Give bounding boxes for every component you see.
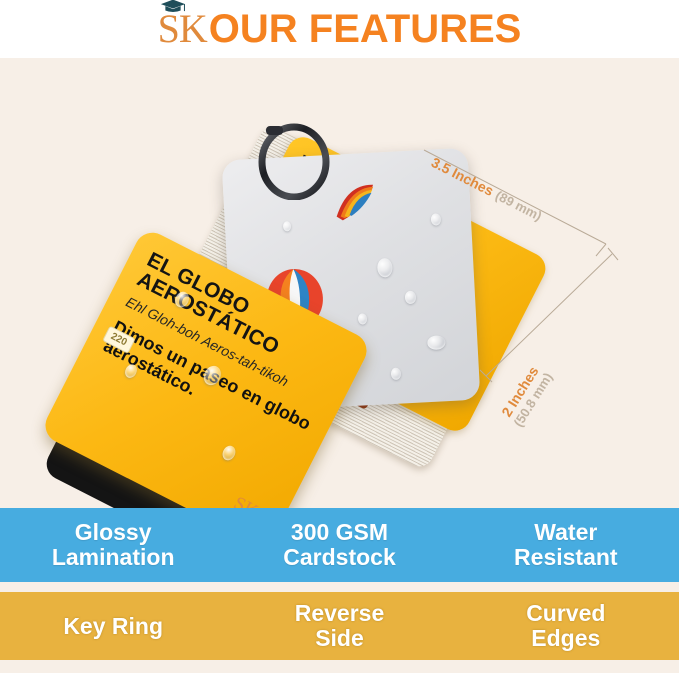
feature-curved-edges: Curved Edges (453, 601, 679, 651)
product-stage: HOT AIR BALLOON Hot Air Buh-lun We took … (0, 58, 679, 508)
key-ring-icon (248, 120, 340, 200)
water-droplet (377, 258, 393, 278)
dimension-width-mm: (89 mm) (493, 188, 544, 224)
graduation-cap-icon (160, 0, 186, 13)
feature-line-2: Resistant (453, 545, 679, 570)
feature-line-2: Side (226, 626, 452, 651)
feature-line-1: Reverse (226, 601, 452, 626)
dimension-height: 2 Inches (50.8 mm) (497, 362, 555, 430)
water-droplet (391, 368, 402, 381)
brand-name: SK (158, 9, 207, 49)
feature-line-1: Key Ring (0, 614, 226, 639)
feature-line-2: Edges (453, 626, 679, 651)
feature-300-gsm-cardstock: 300 GSM Cardstock (226, 520, 452, 570)
feature-line-1: Glossy (0, 520, 226, 545)
feature-line-2: Lamination (0, 545, 226, 570)
feature-bar-secondary: Key Ring Reverse Side Curved Edges (0, 592, 679, 660)
water-droplet (431, 213, 442, 226)
feature-reverse-side: Reverse Side (226, 601, 452, 651)
feature-water-resistant: Water Resistant (453, 520, 679, 570)
feature-line-1: Curved (453, 601, 679, 626)
brand-logo: SK (158, 9, 207, 49)
feature-bar-primary: Glossy Lamination 300 GSM Cardstock Wate… (0, 508, 679, 582)
feature-key-ring: Key Ring (0, 614, 226, 639)
water-droplet (427, 335, 446, 350)
feature-glossy-lamination: Glossy Lamination (0, 520, 226, 570)
feature-line-1: Water (453, 520, 679, 545)
feature-line-2: Cardstock (226, 545, 452, 570)
water-droplet (283, 221, 292, 231)
water-droplet (405, 291, 417, 305)
page-header: SK OUR FEATURES (0, 0, 679, 58)
water-droplet (358, 313, 368, 324)
page-title: OUR FEATURES (209, 8, 522, 50)
feature-line-1: 300 GSM (226, 520, 452, 545)
